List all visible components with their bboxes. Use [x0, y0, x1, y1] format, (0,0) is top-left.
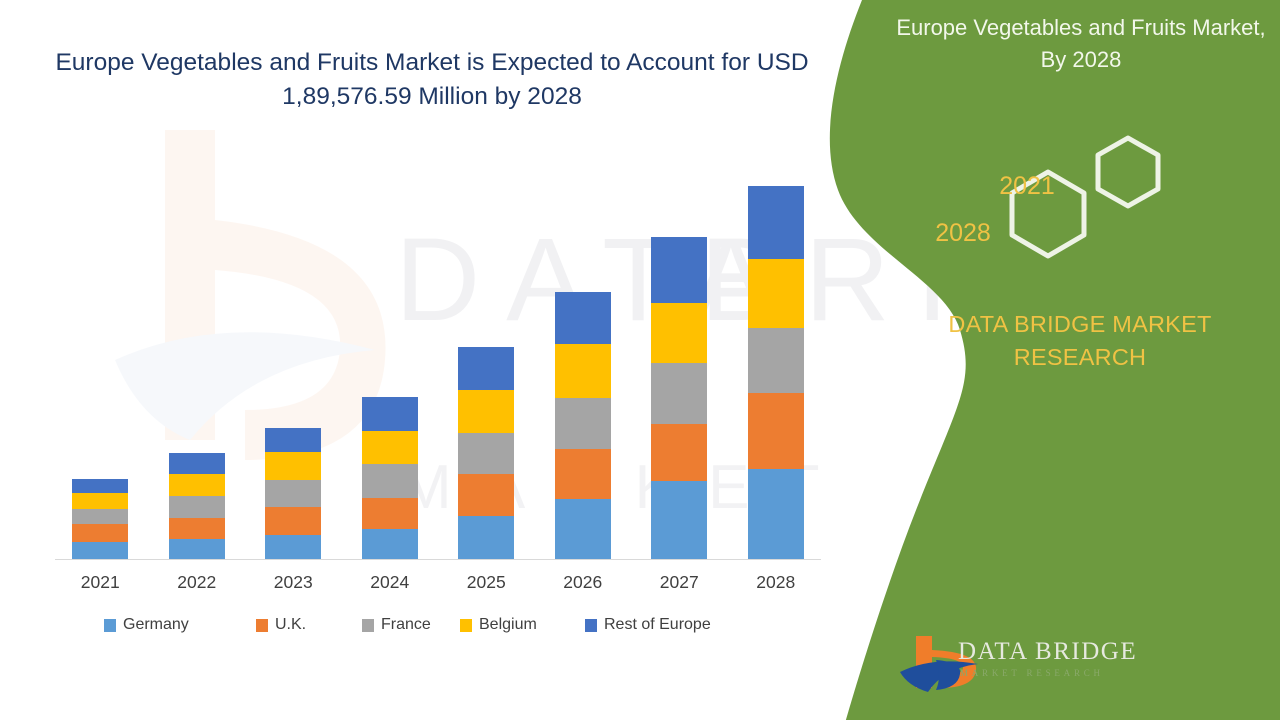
legend-label: Rest of Europe	[604, 616, 711, 634]
legend-item-rest-of-europe[interactable]: Rest of Europe	[585, 616, 711, 634]
hexagon-pair	[980, 135, 1180, 280]
bar-stack-2027[interactable]	[651, 237, 707, 559]
bar-segment[interactable]	[748, 469, 804, 559]
bar-segment[interactable]	[265, 452, 321, 480]
x-tick-2022: 2022	[157, 572, 237, 593]
chart-plot-area	[52, 150, 824, 560]
hexagon-2028-label: 2028	[908, 219, 1018, 248]
legend-item-germany[interactable]: Germany	[104, 616, 189, 634]
x-tick-2028: 2028	[736, 572, 816, 593]
bar-segment[interactable]	[265, 428, 321, 452]
bar-segment[interactable]	[169, 453, 225, 474]
panel-title: Europe Vegetables and Fruits Market, By …	[886, 12, 1276, 76]
bar-segment[interactable]	[169, 518, 225, 539]
bar-segment[interactable]	[458, 516, 514, 559]
x-tick-2025: 2025	[446, 572, 526, 593]
logo-subtext: MARKET RESEARCH	[960, 668, 1104, 678]
bar-segment[interactable]	[362, 397, 418, 431]
bar-segment[interactable]	[169, 539, 225, 559]
x-tick-2026: 2026	[543, 572, 623, 593]
bar-segment[interactable]	[362, 464, 418, 498]
bar-stack-2024[interactable]	[362, 397, 418, 559]
bar-segment[interactable]	[458, 474, 514, 516]
legend-swatch-icon	[104, 619, 116, 632]
bar-segment[interactable]	[458, 347, 514, 390]
bar-segment[interactable]	[748, 186, 804, 259]
hexagon-2021	[1098, 138, 1158, 206]
bar-stack-2023[interactable]	[265, 428, 321, 559]
bar-stack-2026[interactable]	[555, 292, 611, 559]
bar-segment[interactable]	[72, 479, 128, 493]
legend-swatch-icon	[585, 619, 597, 632]
legend-item-france[interactable]: France	[362, 616, 431, 634]
x-axis-line	[55, 559, 821, 560]
bar-segment[interactable]	[651, 303, 707, 363]
stacked-bar-chart	[52, 150, 824, 562]
bar-segment[interactable]	[651, 237, 707, 303]
legend-label: France	[381, 616, 431, 634]
bar-segment[interactable]	[651, 481, 707, 559]
bar-segment[interactable]	[458, 433, 514, 474]
legend-item-belgium[interactable]: Belgium	[460, 616, 537, 634]
x-axis-tick-labels: 20212022202320242025202620272028	[52, 572, 824, 602]
x-tick-2023: 2023	[253, 572, 333, 593]
bar-segment[interactable]	[651, 424, 707, 481]
bar-segment[interactable]	[72, 542, 128, 559]
legend-swatch-icon	[460, 619, 472, 632]
brand-name: DATA BRIDGE MARKET RESEARCH	[890, 308, 1270, 374]
bar-stack-2028[interactable]	[748, 186, 804, 559]
legend-swatch-icon	[362, 619, 374, 632]
legend-swatch-icon	[256, 619, 268, 632]
x-tick-2024: 2024	[350, 572, 430, 593]
bar-segment[interactable]	[748, 259, 804, 328]
bar-segment[interactable]	[555, 449, 611, 499]
bar-segment[interactable]	[169, 496, 225, 518]
bar-segment[interactable]	[651, 363, 707, 424]
bar-segment[interactable]	[555, 292, 611, 344]
bar-segment[interactable]	[555, 344, 611, 398]
chart-headline: Europe Vegetables and Fruits Market is E…	[52, 46, 812, 114]
legend-label: Belgium	[479, 616, 537, 634]
bar-stack-2021[interactable]	[72, 479, 128, 559]
bar-segment[interactable]	[748, 393, 804, 469]
bar-segment[interactable]	[362, 529, 418, 559]
bar-segment[interactable]	[555, 499, 611, 559]
infographic-canvas: DATA BRIDGE MARKET RESEARCH Europe Veget…	[0, 0, 1280, 720]
bar-segment[interactable]	[362, 498, 418, 529]
bar-stack-2022[interactable]	[169, 453, 225, 559]
bar-stack-2025[interactable]	[458, 347, 514, 559]
bar-segment[interactable]	[555, 398, 611, 449]
panel-content: Europe Vegetables and Fruits Market, By …	[880, 0, 1280, 720]
logo-wordmark: DATA BRIDGE	[958, 638, 1137, 666]
bar-segment[interactable]	[72, 493, 128, 509]
bar-segment[interactable]	[72, 524, 128, 542]
chart-legend: GermanyU.K.FranceBelgiumRest of Europe	[52, 616, 824, 642]
bar-segment[interactable]	[748, 328, 804, 393]
hexagon-2021-label: 2021	[982, 172, 1072, 201]
bar-segment[interactable]	[72, 509, 128, 524]
x-tick-2021: 2021	[60, 572, 140, 593]
legend-label: U.K.	[275, 616, 306, 634]
bar-segment[interactable]	[169, 474, 225, 496]
bar-segment[interactable]	[265, 507, 321, 535]
bar-segment[interactable]	[362, 431, 418, 464]
bar-segment[interactable]	[265, 535, 321, 559]
bar-segment[interactable]	[265, 480, 321, 507]
bar-segment[interactable]	[458, 390, 514, 433]
x-tick-2027: 2027	[639, 572, 719, 593]
legend-item-u-k[interactable]: U.K.	[256, 616, 306, 634]
legend-label: Germany	[123, 616, 189, 634]
